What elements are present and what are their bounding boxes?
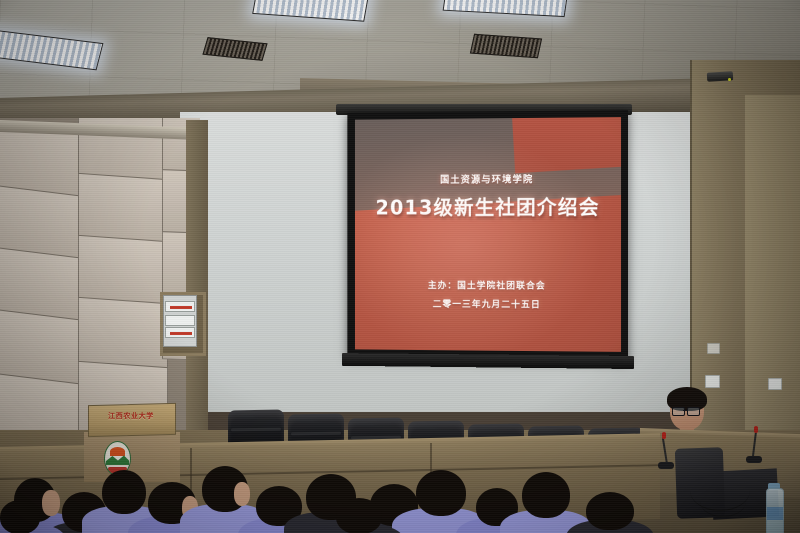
wall-outlet-far-right[interactable] <box>768 378 782 390</box>
water-bottle[interactable] <box>766 488 784 533</box>
slide-title: 2013级新生社团介绍会 <box>355 191 621 220</box>
microphone-head <box>754 426 758 433</box>
speaker-led-icon <box>728 78 731 81</box>
slide-subtitle: 国土资源与环境学院 <box>355 171 621 186</box>
presentation-slide: 国土资源与环境学院 2013级新生社团介绍会 主办：国土学院社团联合会 二零一三… <box>355 117 621 352</box>
microphone-base <box>658 462 674 469</box>
microphone-base <box>746 456 762 463</box>
glasses-bridge <box>683 410 687 411</box>
lecture-hall-photo: 国土资源与环境学院 2013级新生社团介绍会 主办：国土学院社团联合会 二零一三… <box>0 0 800 533</box>
cable <box>700 486 746 517</box>
electrical-breaker-panel[interactable] <box>160 292 206 356</box>
wall-outlet-right[interactable] <box>705 375 720 388</box>
projection-screen: 国土资源与环境学院 2013级新生社团介绍会 主办：国土学院社团联合会 二零一三… <box>347 110 628 360</box>
slide-decorative-band-2 <box>512 117 621 173</box>
glasses-icon <box>687 407 700 416</box>
wall-switch-upper[interactable] <box>707 343 720 354</box>
lectern-university-name: 江西农业大学 <box>92 411 170 421</box>
slide-date: 二零一三年九月二十五日 <box>355 297 621 311</box>
slide-organizer: 主办：国土学院社团联合会 <box>355 278 621 292</box>
microphone-head <box>662 432 666 439</box>
left-wall-acoustic-panels <box>0 118 200 448</box>
left-wall-wood-column <box>186 120 208 450</box>
glasses-icon <box>672 407 685 416</box>
wall-panel-seam <box>690 60 692 430</box>
